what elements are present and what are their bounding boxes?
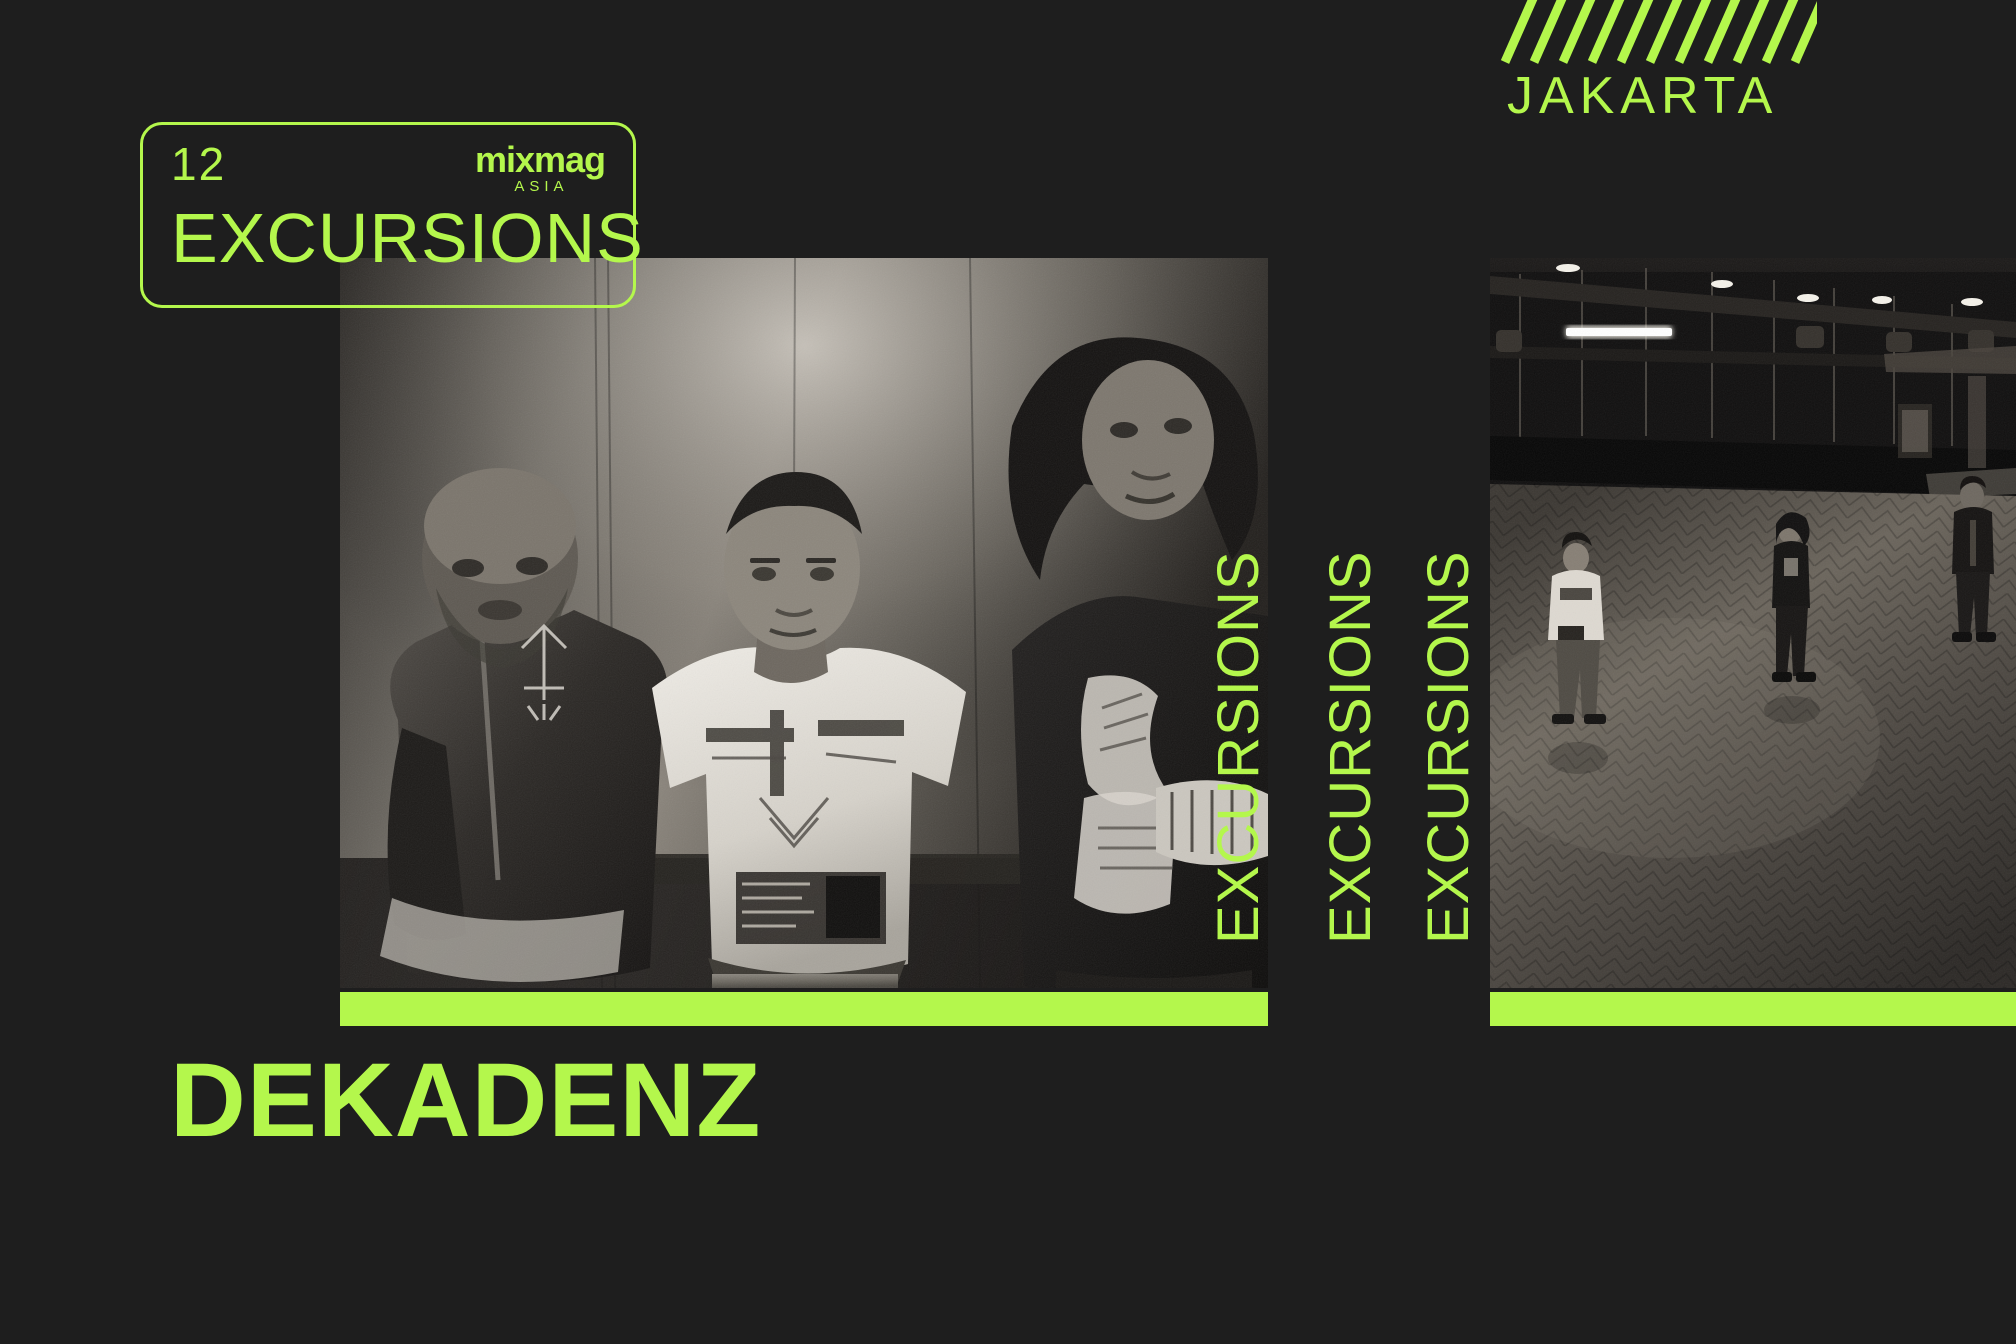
main-photo-accent-bar <box>340 992 1268 1026</box>
vertical-excursions-3: EXCURSIONS <box>1420 550 1478 944</box>
diagonal-slashes-icon <box>1497 0 1817 64</box>
secondary-photo-image <box>1490 258 2016 988</box>
vertical-excursions-2: EXCURSIONS <box>1322 550 1380 944</box>
main-photo-image <box>340 258 1268 988</box>
episode-badge: 12 mixmag ASIA EXCURSIONS <box>140 122 636 308</box>
secondary-photo-accent-bar <box>1490 992 2016 1026</box>
episode-number: 12 <box>171 141 226 187</box>
mixmag-asia-logo: mixmag ASIA <box>475 143 605 195</box>
series-title: EXCURSIONS <box>171 203 644 273</box>
badge-header: 12 mixmag ASIA <box>143 125 633 187</box>
secondary-photo <box>1490 258 2016 988</box>
main-photo <box>340 258 1268 988</box>
jakarta-label: JAKARTA <box>1497 70 1827 122</box>
vertical-excursions-1: EXCURSIONS <box>1210 550 1268 944</box>
mixmag-wordmark: mixmag <box>475 143 605 177</box>
jakarta-brand-block: JAKARTA <box>1497 0 1827 122</box>
asia-wordmark: ASIA <box>475 178 605 195</box>
poster-canvas: JAKARTA <box>0 0 2016 1344</box>
artist-name: DEKADENZ <box>170 1048 761 1153</box>
